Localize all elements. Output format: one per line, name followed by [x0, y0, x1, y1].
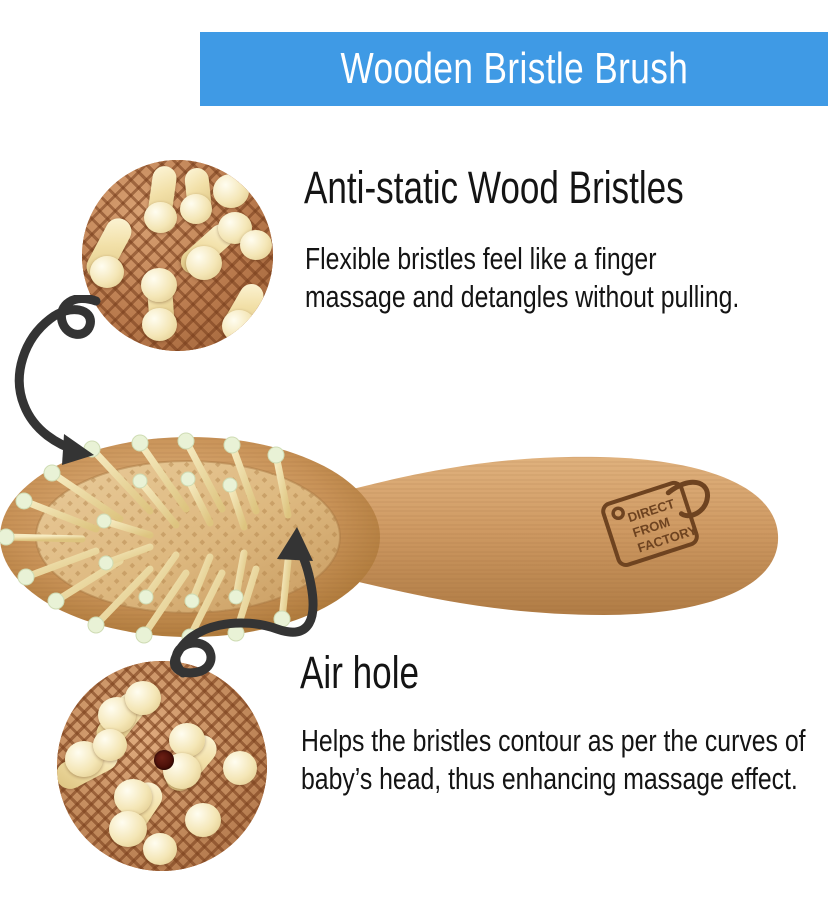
- bristle-tip: [109, 811, 147, 847]
- feature-body-air-hole: Helps the bristles contour as per the cu…: [301, 722, 813, 799]
- bristle-tip: [222, 310, 256, 342]
- bristle-tip: [114, 779, 152, 815]
- product-image-brush: DIRECT FROM FACTORY: [0, 415, 790, 660]
- bristle-tip: [185, 803, 221, 837]
- bristle-tip: [144, 202, 177, 233]
- bristle-tip: [90, 256, 124, 288]
- infographic-page: Wooden Bristle Brush Anti-static Wood Br…: [0, 0, 828, 899]
- feature-title-anti-static-wood-bristles: Anti-static Wood Bristles: [304, 165, 684, 211]
- air-hole-dot: [154, 750, 174, 770]
- bristle-tip: [180, 194, 212, 224]
- bristle-tip: [125, 681, 161, 715]
- bristle-tip: [240, 230, 272, 260]
- page-title: Wooden Bristle Brush: [340, 47, 688, 91]
- feature-body-anti-static-wood-bristles: Flexible bristles feel like a finger mas…: [305, 240, 741, 317]
- title-banner: Wooden Bristle Brush: [200, 32, 828, 106]
- bristles-closeup-circle: [82, 160, 273, 351]
- brush-handle: [330, 457, 778, 615]
- bristle-tip: [223, 751, 257, 785]
- air-hole-closeup-circle: [57, 661, 267, 871]
- bristle-tip: [186, 246, 222, 280]
- bristle-tip: [142, 308, 177, 341]
- bristle-tip: [169, 723, 205, 757]
- bristle-tip: [93, 729, 127, 761]
- bristle-tip: [143, 833, 177, 865]
- bristle-tip: [141, 268, 177, 302]
- bristle-tip: [213, 174, 249, 208]
